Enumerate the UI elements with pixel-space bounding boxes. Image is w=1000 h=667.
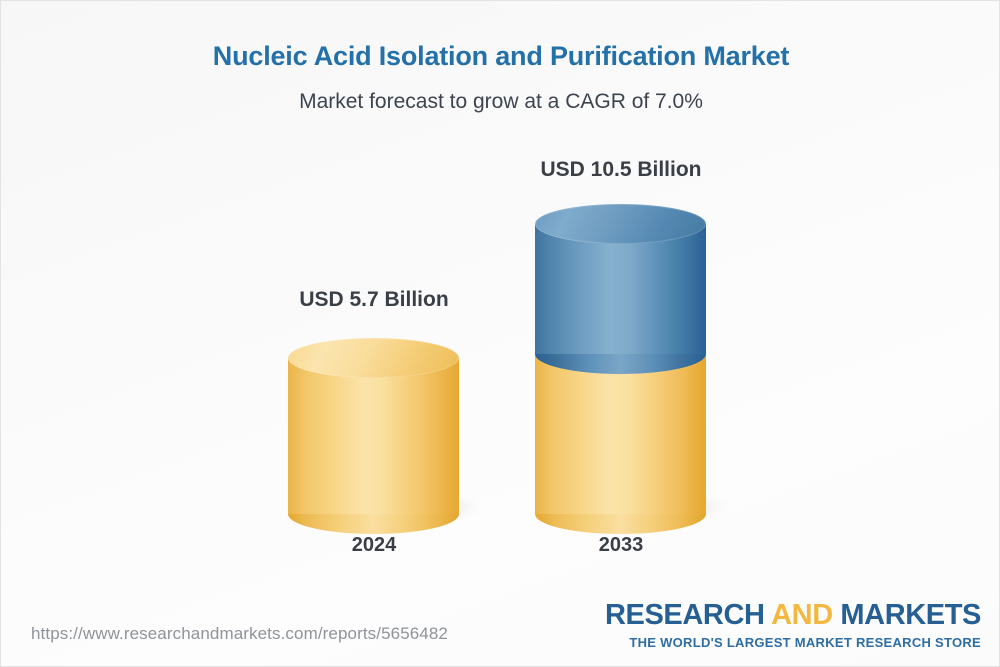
source-url[interactable]: https://www.researchandmarkets.com/repor…: [31, 624, 448, 644]
brand-tagline: THE WORLD'S LARGEST MARKET RESEARCH STOR…: [605, 635, 981, 650]
bar-value-label-2024: USD 5.7 Billion: [244, 288, 504, 312]
brand-logo: RESEARCH AND MARKETS THE WORLD'S LARGEST…: [605, 601, 981, 650]
cylinder-wall-yellow-fill-2033: [535, 354, 706, 514]
plot-area: USD 5.7 Billion 2024 USD 10.5 Billio: [1, 1, 1000, 667]
cylinder-cap-2024: [288, 338, 459, 378]
bar-value-label-2033: USD 10.5 Billion: [491, 158, 751, 182]
brand-name: RESEARCH AND MARKETS: [605, 601, 981, 630]
brand-name-part1: RESEARCH: [605, 599, 771, 631]
bar-category-label-2033: 2033: [491, 534, 751, 557]
cylinder-wall-2024: [288, 358, 459, 514]
bar-category-label-2024: 2024: [244, 534, 504, 557]
chart-canvas: Nucleic Acid Isolation and Purification …: [0, 0, 1000, 667]
cylinder-wall-fill-2024: [288, 358, 459, 514]
brand-name-part2: MARKETS: [833, 599, 981, 631]
brand-name-and: AND: [771, 599, 833, 631]
cylinder-cap-2033: [535, 204, 706, 244]
cylinder-wall-yellow-2033: [535, 354, 706, 514]
